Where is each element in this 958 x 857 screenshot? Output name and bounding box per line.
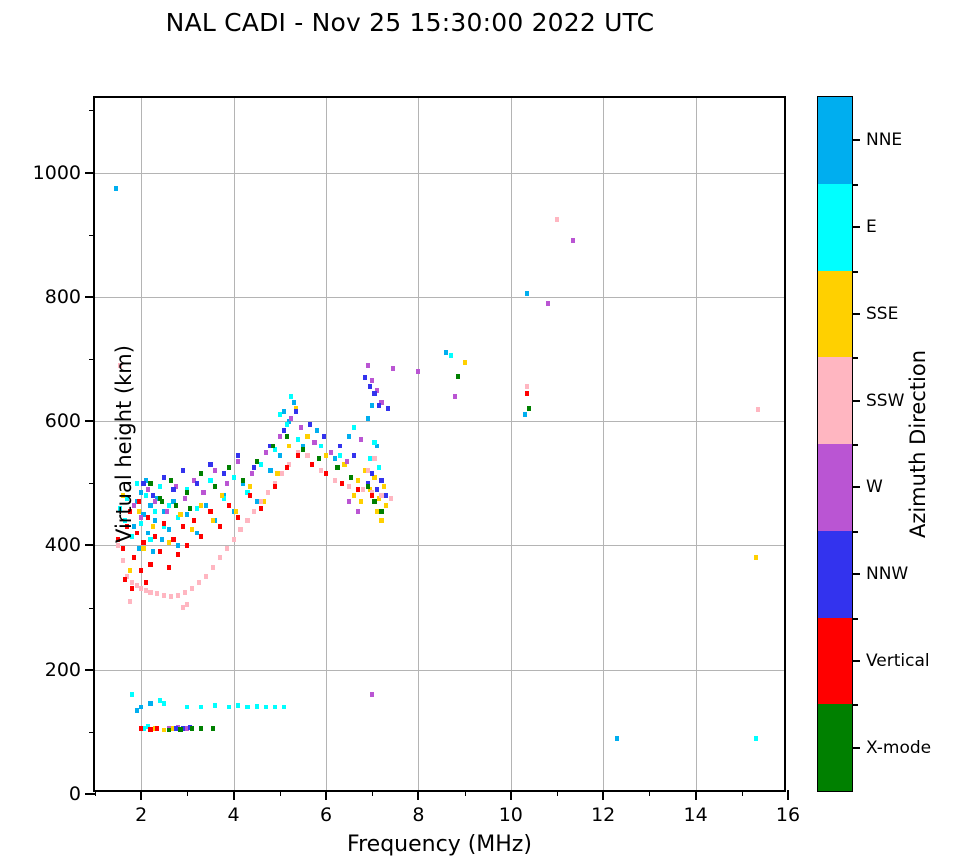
data-point <box>135 583 139 588</box>
data-point <box>527 406 531 411</box>
data-point <box>356 478 360 483</box>
data-point <box>190 726 194 731</box>
y-axis-title: Virtual height (km) <box>112 345 136 543</box>
colorbar-segment-vertical[interactable]: Vertical <box>818 618 852 705</box>
data-point <box>280 471 284 476</box>
data-point <box>259 462 263 467</box>
data-point <box>171 487 175 492</box>
data-point <box>456 374 460 379</box>
colorbar-label-sse: SSE <box>866 304 898 324</box>
y-axis-minor-tick <box>89 732 95 733</box>
data-point <box>139 586 143 591</box>
data-point <box>146 515 150 520</box>
data-point <box>366 484 370 489</box>
data-point <box>250 471 254 476</box>
data-point <box>204 574 208 579</box>
data-point <box>144 580 148 585</box>
x-axis-minor-tick <box>95 790 96 796</box>
data-point <box>252 465 256 470</box>
data-point <box>319 444 323 449</box>
data-point <box>255 704 259 709</box>
x-axis-tick <box>417 790 419 800</box>
data-point <box>222 471 226 476</box>
data-point <box>165 509 169 514</box>
x-axis-tick-label: 16 <box>776 804 800 826</box>
data-point <box>130 580 134 585</box>
data-point <box>259 506 263 511</box>
data-point <box>370 692 374 697</box>
data-point <box>139 726 143 731</box>
data-point <box>185 705 189 710</box>
data-point <box>756 407 760 412</box>
data-point <box>278 453 282 458</box>
data-point <box>359 499 363 504</box>
data-point <box>167 728 171 733</box>
colorbar-tick <box>852 660 860 662</box>
data-point <box>199 534 203 539</box>
data-point <box>384 503 388 508</box>
colorbar-segment-e[interactable]: E <box>818 184 852 271</box>
colorbar-tick <box>852 226 860 228</box>
colorbar-tick <box>852 573 860 575</box>
data-point <box>225 546 229 551</box>
data-point <box>347 484 351 489</box>
data-point <box>162 701 166 706</box>
data-point <box>525 391 529 396</box>
data-point <box>449 353 453 358</box>
data-point <box>370 378 374 383</box>
data-point <box>453 394 457 399</box>
data-point <box>176 552 180 557</box>
data-point <box>195 531 199 536</box>
data-point <box>148 562 152 567</box>
data-point <box>185 543 189 548</box>
data-point <box>153 518 157 523</box>
data-point <box>148 503 152 508</box>
data-point <box>236 459 240 464</box>
data-point <box>368 456 372 461</box>
data-point <box>178 727 182 732</box>
data-point <box>372 440 376 445</box>
data-layer <box>95 98 784 790</box>
data-point <box>185 512 189 517</box>
data-point <box>444 350 448 355</box>
data-point <box>137 499 141 504</box>
data-point <box>266 490 270 495</box>
data-point <box>185 602 189 607</box>
y-axis-minor-tick <box>89 608 95 609</box>
data-point <box>155 591 159 596</box>
data-point <box>167 527 171 532</box>
data-point <box>324 471 328 476</box>
data-point <box>139 568 143 573</box>
data-point <box>151 493 155 498</box>
data-point <box>255 459 259 464</box>
data-point <box>162 593 166 598</box>
data-point <box>130 692 134 697</box>
colorbar-boundary-tick <box>852 618 858 620</box>
data-point <box>338 444 342 449</box>
data-point <box>299 425 303 430</box>
data-point <box>296 437 300 442</box>
data-point <box>345 459 349 464</box>
data-point <box>264 450 268 455</box>
data-point <box>232 537 236 542</box>
data-point <box>148 727 152 732</box>
data-point <box>754 736 758 741</box>
y-axis-tick-label: 1000 <box>33 162 81 184</box>
data-point <box>259 499 263 504</box>
data-point <box>148 590 152 595</box>
data-point <box>296 453 300 458</box>
data-point <box>146 487 150 492</box>
data-point <box>158 484 162 489</box>
x-axis-minor-tick <box>557 790 558 796</box>
data-point <box>285 465 289 470</box>
x-axis-tick-label: 10 <box>499 804 523 826</box>
data-point <box>171 537 175 542</box>
x-axis-minor-tick <box>280 790 281 796</box>
y-axis-tick <box>85 420 95 422</box>
data-point <box>211 726 215 731</box>
data-point <box>377 465 381 470</box>
data-point <box>137 509 141 514</box>
data-point <box>135 708 139 713</box>
data-point <box>282 428 286 433</box>
data-point <box>208 462 212 467</box>
y-axis-tick <box>85 172 95 174</box>
data-point <box>236 703 240 708</box>
data-point <box>128 568 132 573</box>
data-point <box>190 527 194 532</box>
data-point <box>340 481 344 486</box>
data-point <box>151 524 155 529</box>
data-point <box>255 499 259 504</box>
data-point <box>208 509 212 514</box>
data-point <box>379 493 383 498</box>
data-point <box>391 366 395 371</box>
data-point <box>416 369 420 374</box>
data-point <box>162 521 166 526</box>
data-point <box>153 509 157 514</box>
data-point <box>352 453 356 458</box>
data-point <box>114 186 118 191</box>
data-point <box>199 726 203 731</box>
data-point <box>292 400 296 405</box>
data-point <box>375 487 379 492</box>
data-point <box>181 524 185 529</box>
data-point <box>181 468 185 473</box>
data-point <box>324 453 328 458</box>
data-point <box>338 453 342 458</box>
data-point <box>162 728 166 733</box>
data-point <box>379 518 383 523</box>
data-point <box>252 509 256 514</box>
data-point <box>151 549 155 554</box>
colorbar-segment-x-mode[interactable]: X-mode <box>818 704 852 791</box>
data-point <box>361 487 365 492</box>
x-axis-tick <box>695 790 697 800</box>
data-point <box>220 493 224 498</box>
data-point <box>356 509 360 514</box>
data-point <box>273 705 277 710</box>
data-point <box>525 384 529 389</box>
colorbar-segment-w[interactable]: W <box>818 444 852 531</box>
x-axis-tick <box>510 790 512 800</box>
x-axis-tick-label: 6 <box>320 804 332 826</box>
y-axis-tick <box>85 793 95 795</box>
data-point <box>183 496 187 501</box>
data-point <box>382 484 386 489</box>
data-point <box>352 493 356 498</box>
data-point <box>144 493 148 498</box>
colorbar-label-nne: NNE <box>866 130 902 150</box>
data-point <box>241 478 245 483</box>
data-point <box>169 478 173 483</box>
data-point <box>139 521 143 526</box>
data-point <box>153 534 157 539</box>
colorbar-tick <box>852 139 860 141</box>
data-point <box>305 453 309 458</box>
data-point <box>370 493 374 498</box>
x-axis-tick-label: 2 <box>135 804 147 826</box>
x-axis-tick <box>233 790 235 800</box>
data-point <box>363 375 367 380</box>
data-point <box>386 406 390 411</box>
data-point <box>349 475 353 480</box>
x-axis-tick-label: 12 <box>591 804 615 826</box>
data-point <box>317 456 321 461</box>
data-point <box>375 509 379 514</box>
data-point <box>368 384 372 389</box>
data-point <box>245 518 249 523</box>
data-point <box>275 471 279 476</box>
data-point <box>181 605 185 610</box>
data-point <box>372 391 376 396</box>
data-point <box>315 428 319 433</box>
colorbar-segment-sse[interactable]: SSE <box>818 271 852 358</box>
data-point <box>370 471 374 476</box>
data-point <box>523 412 527 417</box>
data-point <box>271 444 275 449</box>
data-point <box>201 490 205 495</box>
x-axis-minor-tick <box>372 790 373 796</box>
data-point <box>289 416 293 421</box>
data-point <box>287 444 291 449</box>
data-point <box>199 503 203 508</box>
data-point <box>463 360 467 365</box>
data-point <box>169 594 173 599</box>
data-point <box>329 450 333 455</box>
data-point <box>190 586 194 591</box>
data-point <box>132 555 136 560</box>
data-point <box>525 291 529 296</box>
data-point <box>366 416 370 421</box>
colorbar-legend[interactable]: NNEESSESSWWNNWVerticalX-mode <box>817 96 853 792</box>
data-point <box>176 543 180 548</box>
data-point <box>213 468 217 473</box>
data-point <box>160 537 164 542</box>
x-axis-tick-label: 4 <box>228 804 240 826</box>
y-axis-tick-label: 800 <box>45 286 81 308</box>
data-point <box>227 705 231 710</box>
data-point <box>366 468 370 473</box>
data-point <box>268 468 272 473</box>
data-point <box>333 456 337 461</box>
data-point <box>148 701 152 706</box>
data-point <box>146 531 150 536</box>
data-point <box>204 503 208 508</box>
data-point <box>754 555 758 560</box>
data-point <box>379 509 383 514</box>
data-point <box>183 590 187 595</box>
data-point <box>273 484 277 489</box>
data-point <box>356 487 360 492</box>
colorbar-label-e: E <box>866 217 877 237</box>
x-axis-tick-label: 14 <box>684 804 708 826</box>
y-axis-minor-tick <box>89 359 95 360</box>
colorbar-boundary-tick <box>852 531 858 533</box>
data-point <box>178 512 182 517</box>
colorbar-tick <box>852 486 860 488</box>
data-point <box>310 462 314 467</box>
data-point <box>188 506 192 511</box>
data-point <box>248 493 252 498</box>
data-point <box>333 478 337 483</box>
x-axis-minor-tick <box>465 790 466 796</box>
data-point <box>167 540 171 545</box>
data-point <box>208 478 212 483</box>
data-point <box>176 593 180 598</box>
x-axis-tick <box>325 790 327 800</box>
data-point <box>245 705 249 710</box>
data-point <box>282 705 286 710</box>
data-point <box>234 509 238 514</box>
page-title: NAL CADI - Nov 25 15:30:00 2022 UTC <box>0 8 820 37</box>
x-axis-minor-tick <box>187 790 188 796</box>
data-point <box>218 524 222 529</box>
colorbar-boundary-tick <box>852 271 858 273</box>
data-point <box>148 537 152 542</box>
data-point <box>141 540 145 545</box>
data-point <box>289 394 293 399</box>
data-point <box>372 499 376 504</box>
x-axis-tick <box>602 790 604 800</box>
data-point <box>153 499 157 504</box>
y-axis-minor-tick <box>89 483 95 484</box>
colorbar-label-vertical: Vertical <box>866 651 930 671</box>
data-point <box>158 698 162 703</box>
data-point <box>335 465 339 470</box>
data-point <box>370 403 374 408</box>
x-axis-tick <box>140 790 142 800</box>
data-point <box>121 558 125 563</box>
y-axis-tick-label: 200 <box>45 659 81 681</box>
data-point <box>248 484 252 489</box>
data-point <box>213 484 217 489</box>
data-point <box>211 565 215 570</box>
data-point <box>144 588 148 593</box>
data-point <box>372 456 376 461</box>
data-point <box>141 481 145 486</box>
data-point <box>199 705 203 710</box>
data-point <box>195 481 199 486</box>
data-point <box>347 434 351 439</box>
data-point <box>167 565 171 570</box>
colorbar-boundary-tick <box>852 444 858 446</box>
y-axis-tick <box>85 544 95 546</box>
colorbar-tick <box>852 400 860 402</box>
data-point <box>174 726 178 731</box>
colorbar-label-x-mode: X-mode <box>866 738 931 758</box>
y-axis-tick <box>85 296 95 298</box>
data-point <box>308 422 312 427</box>
data-point <box>141 546 145 551</box>
data-point <box>162 475 166 480</box>
data-point <box>571 238 575 243</box>
data-point <box>139 515 143 520</box>
data-point <box>195 506 199 511</box>
data-point <box>123 577 127 582</box>
data-point <box>278 412 282 417</box>
data-point <box>148 481 152 486</box>
data-point <box>352 425 356 430</box>
colorbar-label-ssw: SSW <box>866 391 904 411</box>
data-point <box>546 301 550 306</box>
y-axis-minor-tick <box>89 235 95 236</box>
data-point <box>264 705 268 710</box>
data-point <box>322 434 326 439</box>
data-point <box>347 499 351 504</box>
data-point <box>197 580 201 585</box>
data-point <box>312 440 316 445</box>
data-point <box>167 503 171 508</box>
data-point <box>218 555 222 560</box>
y-axis-minor-tick <box>89 110 95 111</box>
data-point <box>185 490 189 495</box>
data-point <box>359 437 363 442</box>
data-point <box>211 518 215 523</box>
data-point <box>199 471 203 476</box>
data-point <box>379 478 383 483</box>
data-point <box>174 503 178 508</box>
colorbar-tick <box>852 313 860 315</box>
data-point <box>160 499 164 504</box>
data-point <box>227 503 231 508</box>
data-point <box>555 217 559 222</box>
data-point <box>192 518 196 523</box>
colorbar-label-w: W <box>866 477 883 497</box>
data-point <box>227 465 231 470</box>
colorbar-segment-ssw[interactable]: SSW <box>818 357 852 444</box>
data-point <box>213 703 217 708</box>
data-point <box>121 546 125 551</box>
y-axis-tick-label: 600 <box>45 410 81 432</box>
data-point <box>384 493 388 498</box>
data-point <box>236 453 240 458</box>
x-axis-tick <box>787 790 789 800</box>
x-axis-minor-tick <box>649 790 650 796</box>
data-point <box>137 546 141 551</box>
data-point <box>615 736 619 741</box>
data-point <box>366 363 370 368</box>
colorbar-segment-nnw[interactable]: NNW <box>818 531 852 618</box>
data-point <box>294 409 298 414</box>
data-point <box>285 434 289 439</box>
colorbar-segment-nne[interactable]: NNE <box>818 97 852 184</box>
data-point <box>319 468 323 473</box>
data-point <box>278 434 282 439</box>
